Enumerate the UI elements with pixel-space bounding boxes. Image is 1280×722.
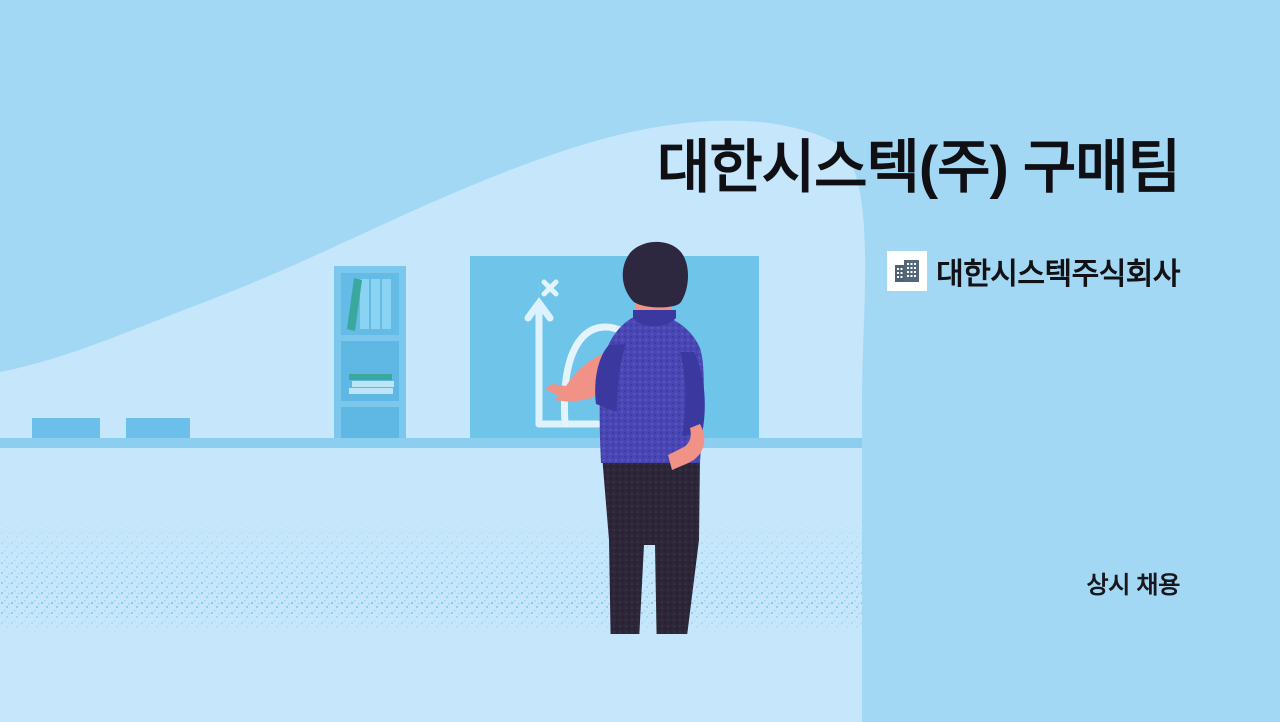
page-title: 대한시스텍(주) 구매팀 <box>0 136 1180 201</box>
company-row: 대한시스텍주식회사 <box>0 249 1180 293</box>
company-name: 대한시스텍주식회사 <box>936 249 1180 293</box>
office-illustration <box>0 0 862 634</box>
floor-strip <box>0 438 862 448</box>
recruit-banner: 대한시스텍(주) 구매팀 <box>0 0 1280 722</box>
hiring-status-badge: 상시 채용 <box>0 565 1180 600</box>
office-building-icon <box>887 251 927 291</box>
